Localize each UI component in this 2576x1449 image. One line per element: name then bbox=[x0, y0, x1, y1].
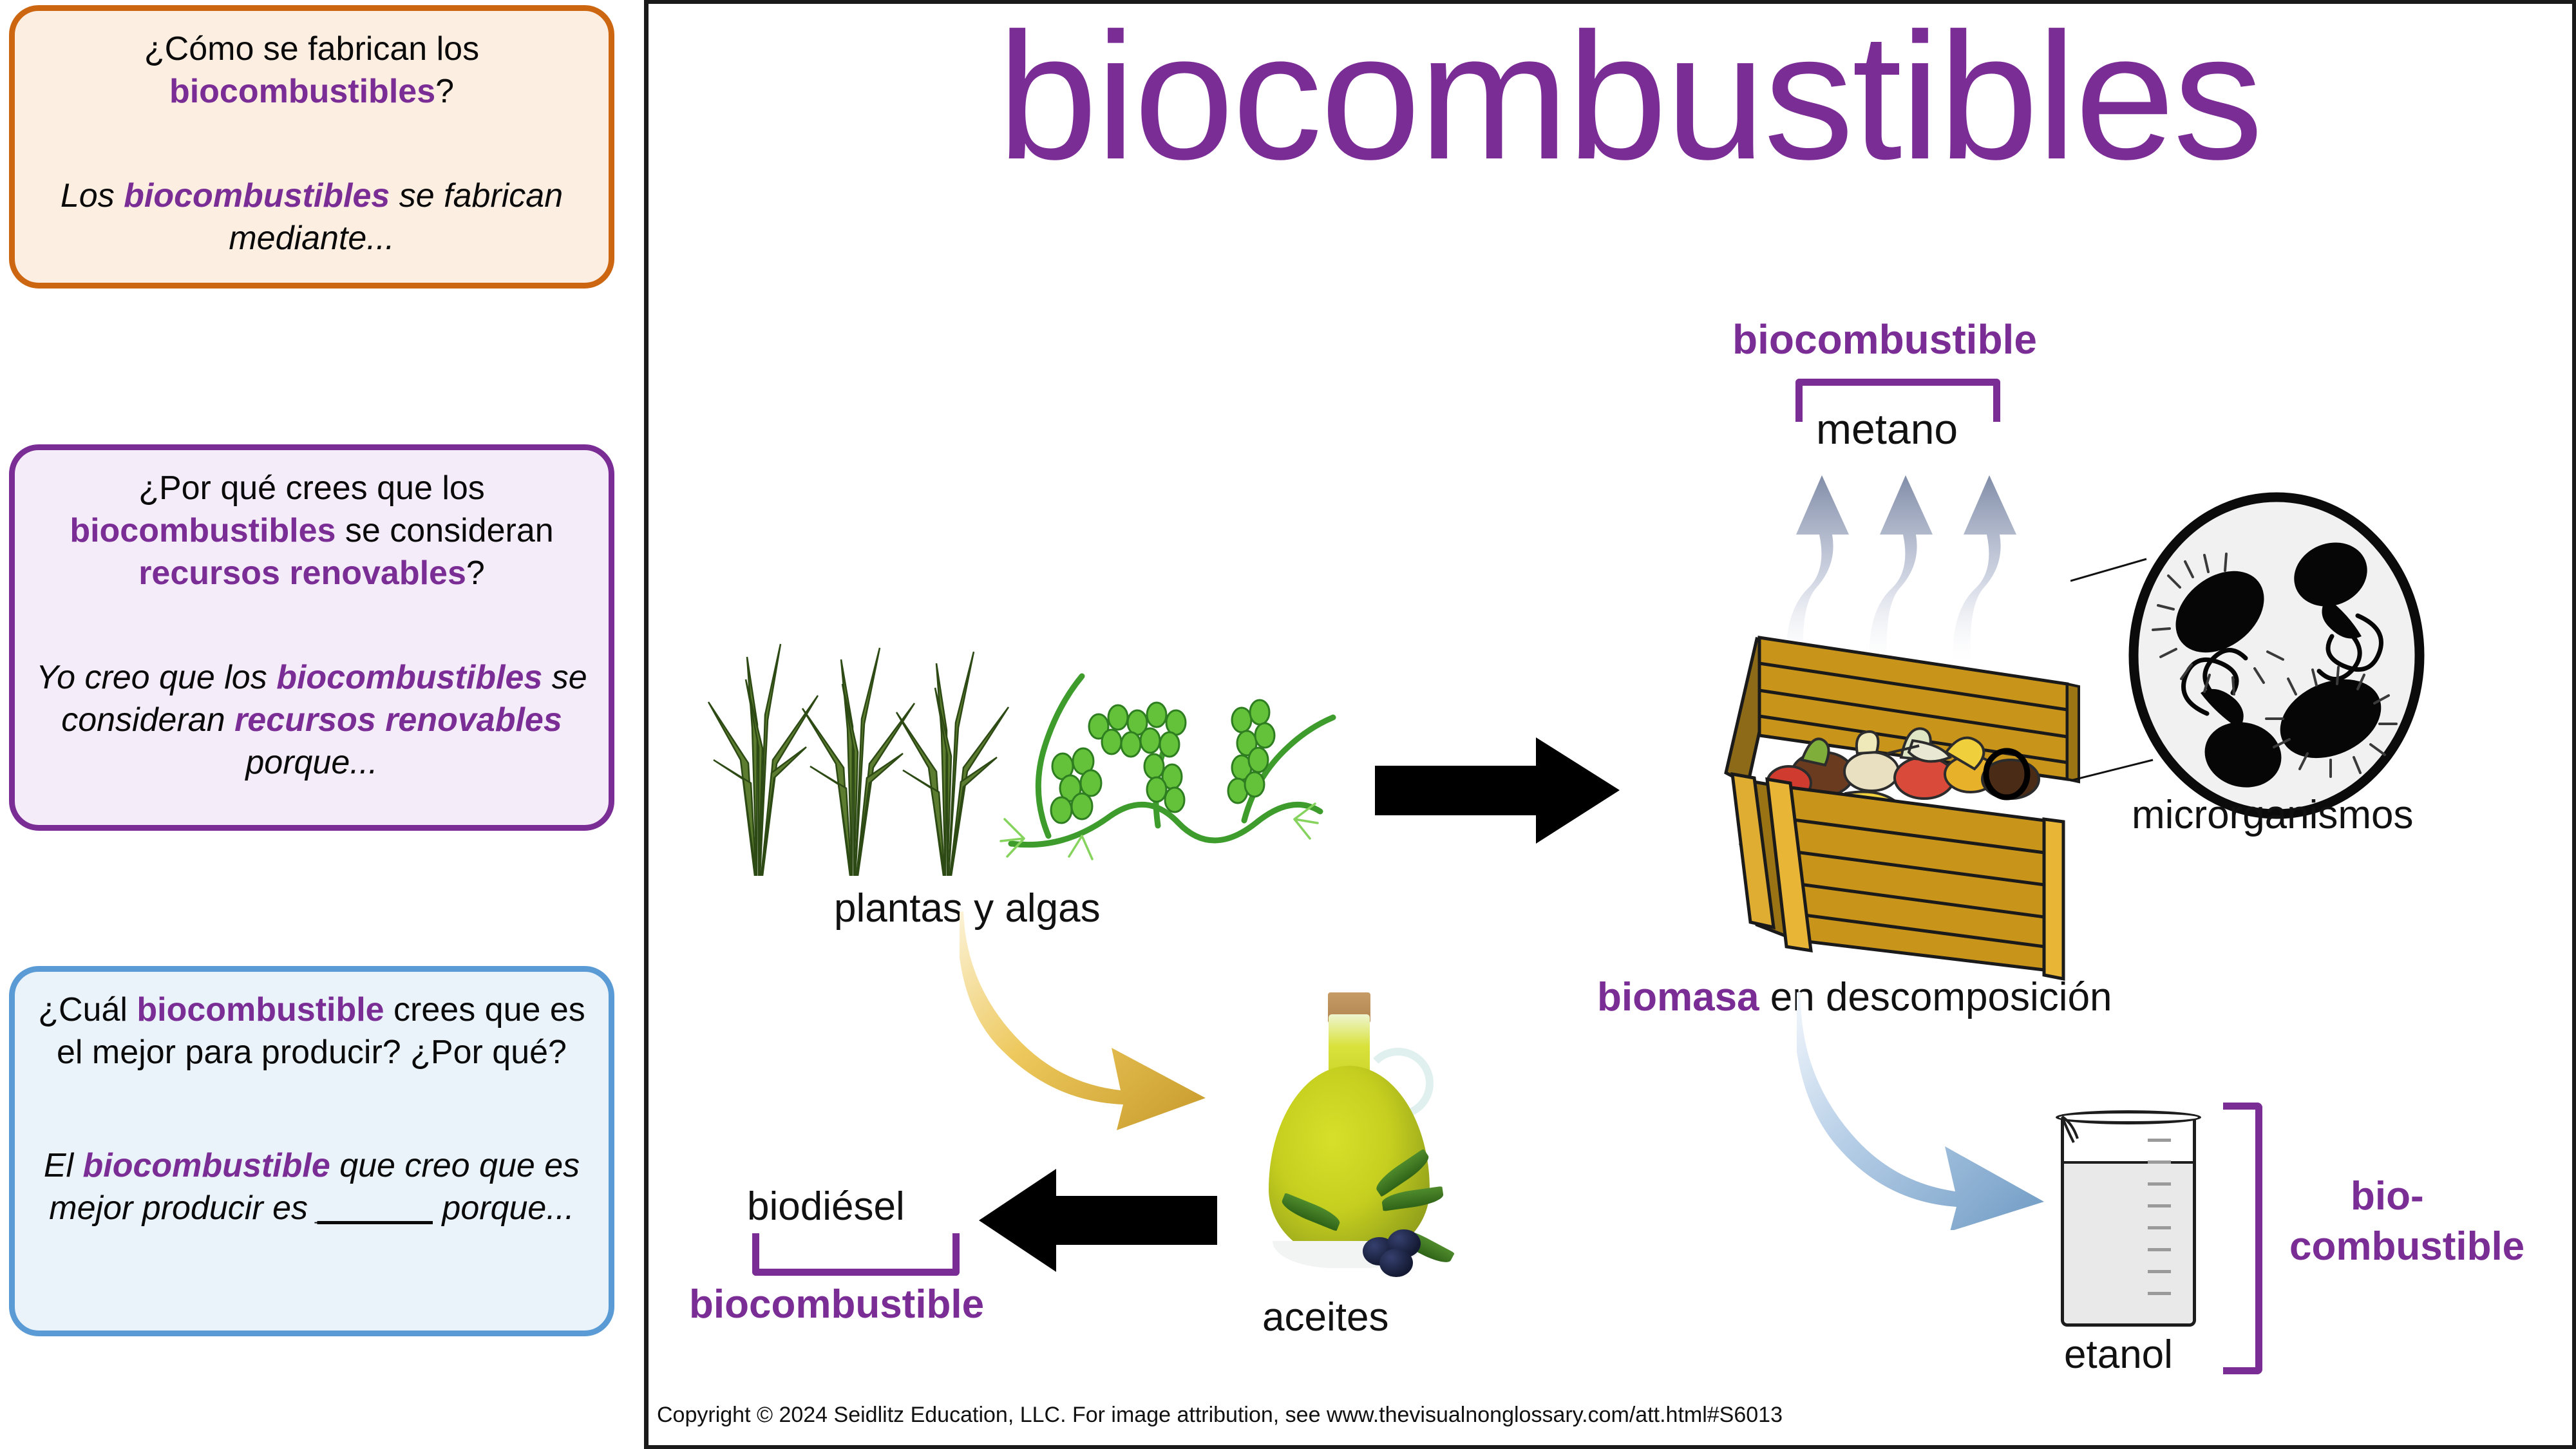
biodiesel-bracket bbox=[752, 1233, 960, 1276]
beaker-tick bbox=[2148, 1226, 2171, 1229]
beaker-tick bbox=[2148, 1139, 2171, 1142]
olive-oil-bottle-icon bbox=[1243, 989, 1513, 1298]
card-3-sentence-stem: El biocombustible que creo que es mejor … bbox=[34, 1144, 589, 1229]
biofuel-ethanol-label-line1: bio- bbox=[2351, 1173, 2424, 1219]
card-3-stem-blank[interactable]: ______ bbox=[317, 1189, 433, 1227]
question-card-best-biofuel[interactable]: ¿Cuál biocombustible crees que es el mej… bbox=[9, 966, 614, 1336]
beaker-tick bbox=[2148, 1270, 2171, 1273]
card-1-question-term: biocombustibles bbox=[169, 73, 435, 110]
question-sidebar: ¿Cómo se fabrican los biocombustibles? L… bbox=[0, 0, 644, 1449]
card-2-question-term2: recursos renovables bbox=[138, 554, 466, 592]
biofuel-biodiesel-label: biocombustible bbox=[689, 1282, 984, 1327]
olive-fruit bbox=[1379, 1249, 1413, 1277]
page-title: biocombustibles bbox=[889, 6, 2370, 187]
beaker-tick bbox=[2148, 1182, 2171, 1186]
card-2-stem-post: porque... bbox=[245, 744, 377, 781]
card-1-sentence-stem: Los biocombustibles se fabrican mediante… bbox=[34, 175, 589, 260]
card-1-question: ¿Cómo se fabrican los biocombustibles? bbox=[34, 28, 589, 113]
biofuel-methane-label: biocombustible bbox=[1732, 316, 2037, 363]
beaker-tick bbox=[2148, 1204, 2171, 1207]
beaker-tick bbox=[2148, 1248, 2171, 1251]
ethanol-label: etanol bbox=[2064, 1332, 2173, 1378]
copyright-text: Copyright © 2024 Seidlitz Education, LLC… bbox=[657, 1403, 1783, 1428]
card-2-stem-term: biocombustibles bbox=[276, 659, 542, 696]
card-2-stem-term2: recursos renovables bbox=[234, 701, 562, 739]
question-card-how-made[interactable]: ¿Cómo se fabrican los biocombustibles? L… bbox=[9, 5, 614, 289]
black-right-arrow-icon bbox=[1375, 737, 1620, 847]
card-3-spacer bbox=[34, 1074, 589, 1144]
black-left-arrow-icon bbox=[979, 1169, 1217, 1275]
beaker-tick bbox=[2148, 1160, 2171, 1164]
card-3-question-term: biocombustible bbox=[137, 991, 384, 1028]
beaker-liquid bbox=[2064, 1161, 2193, 1323]
card-3-question-pre: ¿Cuál bbox=[38, 991, 137, 1028]
card-1-stem-pre: Los bbox=[61, 177, 124, 214]
card-3-stem-term: biocombustible bbox=[83, 1147, 330, 1184]
card-1-question-pre: ¿Cómo se fabrican los bbox=[144, 30, 479, 68]
card-3-question: ¿Cuál biocombustible crees que es el mej… bbox=[34, 989, 589, 1074]
microorganisms-label: microrganismos bbox=[2132, 792, 2414, 838]
card-3-stem-post: porque... bbox=[433, 1189, 574, 1227]
beaker-tick bbox=[2148, 1292, 2171, 1295]
methane-label: metano bbox=[1816, 404, 1958, 453]
question-card-renewable[interactable]: ¿Por qué crees que los biocombustibles s… bbox=[9, 444, 614, 831]
card-3-stem-pre: El bbox=[44, 1147, 83, 1184]
card-2-question-term: biocombustibles bbox=[70, 512, 336, 549]
card-2-question-pre: ¿Por qué crees que los bbox=[138, 469, 485, 507]
biofuel-ethanol-label-line2: combustible bbox=[2289, 1224, 2524, 1269]
card-2-question-post: ? bbox=[466, 554, 485, 592]
card-2-spacer bbox=[34, 594, 589, 656]
card-2-sentence-stem: Yo creo que los biocombustibles se consi… bbox=[34, 656, 589, 784]
card-1-question-post: ? bbox=[435, 73, 454, 110]
card-1-stem-term: biocombustibles bbox=[124, 177, 390, 214]
card-2-question: ¿Por qué crees que los biocombustibles s… bbox=[34, 467, 589, 594]
biomass-term: biomasa bbox=[1597, 975, 1759, 1019]
biodiesel-label: biodiésel bbox=[747, 1184, 905, 1229]
card-2-question-mid: se consideran bbox=[336, 512, 553, 549]
oils-label: aceites bbox=[1262, 1294, 1388, 1340]
ethanol-bracket bbox=[2223, 1103, 2262, 1374]
card-2-stem-pre: Yo creo que los bbox=[36, 659, 276, 696]
card-1-spacer bbox=[34, 113, 589, 175]
